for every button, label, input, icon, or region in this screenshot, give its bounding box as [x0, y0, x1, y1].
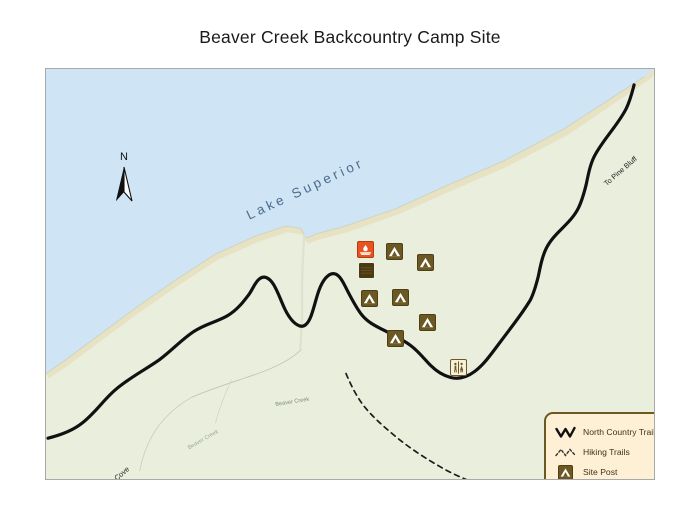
map-page: Beaver Creek Backcountry Camp Site [0, 0, 700, 525]
map-marker-toilet[interactable] [450, 359, 467, 376]
legend-item-label: North Country Trail [583, 427, 655, 437]
map-marker-site-post-3[interactable] [361, 290, 378, 307]
hiking-trails-icon [555, 444, 576, 461]
legend-item-label: Hiking Trails [583, 447, 630, 457]
site-post-icon [555, 464, 576, 481]
legend-item-hiking-trails: Hiking Trails [546, 442, 655, 462]
north-arrow-icon [110, 165, 138, 203]
map-legend: North Country TrailHiking TrailsSite Pos… [544, 412, 655, 480]
legend-item-north-country-trail: North Country Trail [546, 422, 655, 442]
legend-rows: North Country TrailHiking TrailsSite Pos… [546, 422, 655, 480]
map-marker-site-post-5[interactable] [419, 314, 436, 331]
map-marker-site-post-4[interactable] [392, 289, 409, 306]
map-marker-site-post-2[interactable] [417, 254, 434, 271]
legend-item-label: Site Post [583, 467, 617, 477]
north-country-trail-icon [555, 424, 576, 441]
legend-item-site-post: Site Post [546, 462, 655, 480]
map-canvas[interactable]: N Lake Superior To Pine Bluff To Cove To… [45, 68, 655, 480]
north-arrow-label: N [110, 151, 138, 163]
map-marker-site-post-1[interactable] [386, 243, 403, 260]
page-title: Beaver Creek Backcountry Camp Site [0, 27, 700, 48]
map-marker-fire-ring[interactable] [357, 241, 374, 258]
map-marker-food-storage-box[interactable] [358, 262, 375, 279]
north-arrow: N [110, 151, 138, 203]
map-marker-site-post-6[interactable] [387, 330, 404, 347]
